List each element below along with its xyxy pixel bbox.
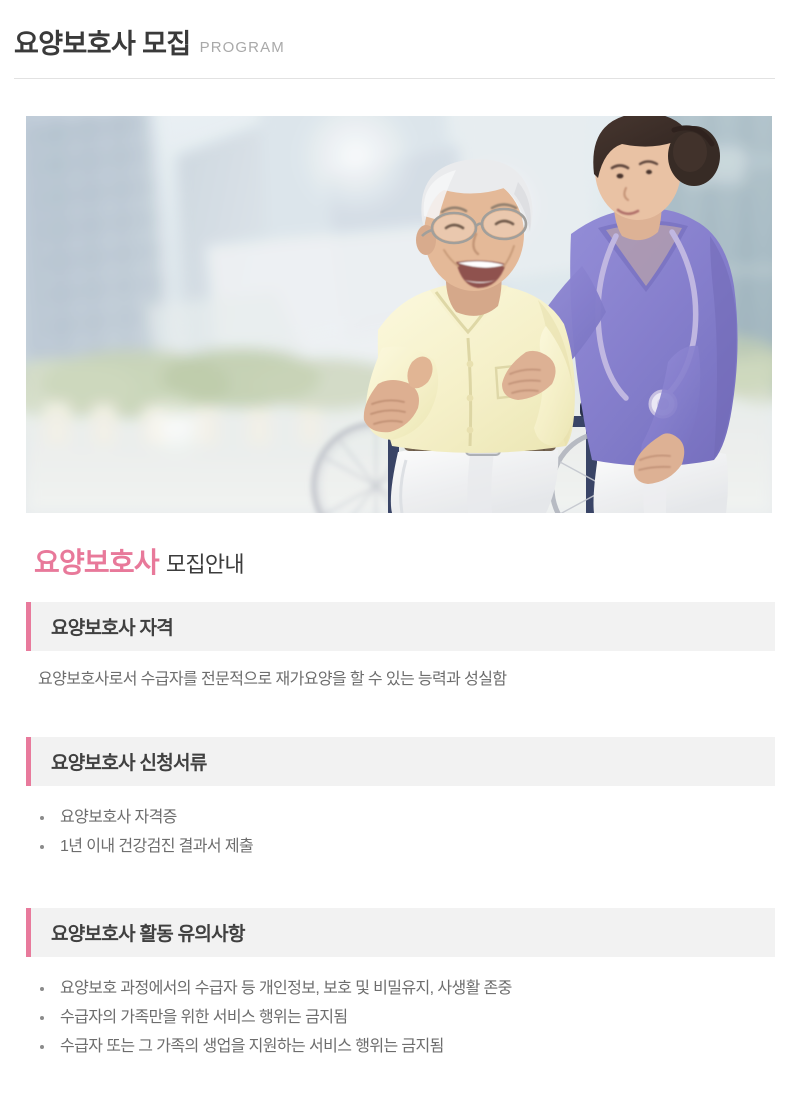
section-qualification: 요양보호사 자격 요양보호사로서 수급자를 전문적으로 재가요양을 할 수 있는… [26, 602, 775, 692]
section-precautions-title: 요양보호사 활동 유의사항 [51, 919, 245, 946]
section-documents-body: 요양보호사 자격증 1년 이내 건강검진 결과서 제출 [26, 786, 775, 861]
section-qualification-header: 요양보호사 자격 [26, 602, 775, 651]
list-item: 요양보호사 자격증 [38, 803, 775, 832]
header-title-group: 요양보호사 모집 PROGRAM [14, 30, 285, 58]
section-qualification-text: 요양보호사로서 수급자를 전문적으로 재가요양을 할 수 있는 능력과 성실함 [38, 668, 775, 692]
program-page: 요양보호사 모집 PROGRAM [0, 0, 800, 1120]
list-item: 1년 이내 건강검진 결과서 제출 [38, 832, 775, 861]
page-title-english-label: PROGRAM [200, 40, 285, 56]
section-documents: 요양보호사 신청서류 요양보호사 자격증 1년 이내 건강검진 결과서 제출 [26, 737, 775, 861]
page-title: 요양보호사 모집 [14, 30, 191, 58]
page-header: 요양보호사 모집 PROGRAM [0, 0, 800, 79]
accent-bar-icon [26, 908, 31, 957]
caregiver-photo-illustration [26, 116, 772, 513]
lead-heading-highlight: 요양보호사 [34, 541, 159, 581]
section-precautions-body: 요양보호 과정에서의 수급자 등 개인정보, 보호 및 비밀유지, 사생활 존중… [26, 957, 775, 1061]
accent-bar-icon [26, 737, 31, 786]
section-precautions-header: 요양보호사 활동 유의사항 [26, 908, 775, 957]
lead-heading: 요양보호사 모집안내 [34, 541, 244, 581]
section-qualification-title: 요양보호사 자격 [51, 613, 173, 640]
accent-bar-icon [26, 602, 31, 651]
list-item: 수급자의 가족만을 위한 서비스 행위는 금지됨 [38, 1003, 775, 1032]
precautions-list: 요양보호 과정에서의 수급자 등 개인정보, 보호 및 비밀유지, 사생활 존중… [38, 974, 775, 1061]
section-documents-title: 요양보호사 신청서류 [51, 748, 207, 775]
documents-list: 요양보호사 자격증 1년 이내 건강검진 결과서 제출 [38, 803, 775, 861]
section-qualification-body: 요양보호사로서 수급자를 전문적으로 재가요양을 할 수 있는 능력과 성실함 [26, 651, 775, 692]
section-documents-header: 요양보호사 신청서류 [26, 737, 775, 786]
header-divider [14, 78, 775, 79]
caregiver-photo [26, 116, 772, 513]
list-item: 수급자 또는 그 가족의 생업을 지원하는 서비스 행위는 금지됨 [38, 1032, 775, 1061]
section-precautions: 요양보호사 활동 유의사항 요양보호 과정에서의 수급자 등 개인정보, 보호 … [26, 908, 775, 1061]
list-item: 요양보호 과정에서의 수급자 등 개인정보, 보호 및 비밀유지, 사생활 존중 [38, 974, 775, 1003]
lead-heading-rest: 모집안내 [166, 547, 244, 579]
